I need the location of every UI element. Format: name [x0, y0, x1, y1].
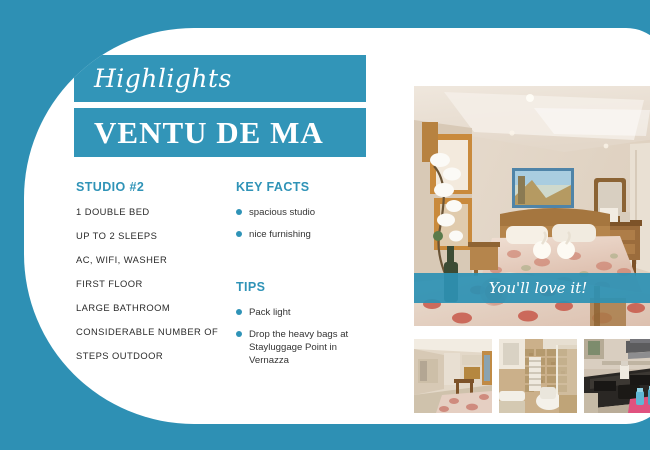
kitchen-photo-graphic — [584, 339, 650, 413]
list-item: nice furnishing — [236, 228, 376, 241]
spec-line: AC, WIFI, WASHER — [76, 254, 241, 265]
list-item: Pack light — [236, 306, 376, 319]
kitchen-photo[interactable] — [584, 339, 650, 413]
bedroom-photo[interactable]: You'll love it! — [414, 86, 650, 326]
bathroom-photo-graphic — [499, 339, 577, 413]
script-title-block: Highlights — [74, 55, 366, 102]
spec-line: UP TO 2 SLEEPS — [76, 230, 241, 241]
page-title: VENTU DE MA — [94, 115, 324, 151]
living-room-photo[interactable] — [414, 339, 492, 413]
hero-caption-text: You'll love it! — [489, 279, 588, 297]
spec-line: CONSIDERABLE NUMBER OF — [76, 326, 241, 337]
spec-line: STEPS OUTDOOR — [76, 350, 241, 361]
studio-specs-column: STUDIO #2 1 DOUBLE BED UP TO 2 SLEEPS AC… — [76, 180, 241, 374]
main-title-block: VENTU DE MA — [74, 108, 366, 157]
studio-heading: STUDIO #2 — [76, 180, 241, 194]
list-item: Drop the heavy bags at Stayluggage Point… — [236, 328, 376, 367]
section-spacer — [236, 250, 376, 280]
key-facts-heading: KEY FACTS — [236, 180, 376, 194]
flyer-page: Highlights VENTU DE MA STUDIO #2 1 DOUBL… — [0, 0, 650, 450]
spec-line: FIRST FLOOR — [76, 278, 241, 289]
page-subtitle: Highlights — [94, 64, 232, 93]
key-fact-text: spacious studio — [249, 206, 315, 219]
living-room-photo-graphic — [414, 339, 492, 413]
key-fact-text: nice furnishing — [249, 228, 311, 241]
white-content-card: Highlights VENTU DE MA STUDIO #2 1 DOUBL… — [24, 28, 650, 424]
facts-tips-column: KEY FACTS spacious studio nice furnishin… — [236, 180, 376, 376]
spec-line: 1 DOUBLE BED — [76, 206, 241, 217]
bathroom-photo[interactable] — [499, 339, 577, 413]
bullet-dot-icon — [236, 231, 242, 237]
header: Highlights VENTU DE MA — [74, 55, 366, 157]
bullet-dot-icon — [236, 209, 242, 215]
bullet-dot-icon — [236, 309, 242, 315]
tips-heading: TIPS — [236, 280, 376, 294]
thumbnail-gallery — [414, 339, 650, 413]
tip-text: Pack light — [249, 306, 291, 319]
spec-line: LARGE BATHROOM — [76, 302, 241, 313]
bullet-dot-icon — [236, 331, 242, 337]
hero-caption-bar: You'll love it! — [414, 273, 650, 303]
tip-text: Drop the heavy bags at Stayluggage Point… — [249, 328, 376, 367]
list-item: spacious studio — [236, 206, 376, 219]
